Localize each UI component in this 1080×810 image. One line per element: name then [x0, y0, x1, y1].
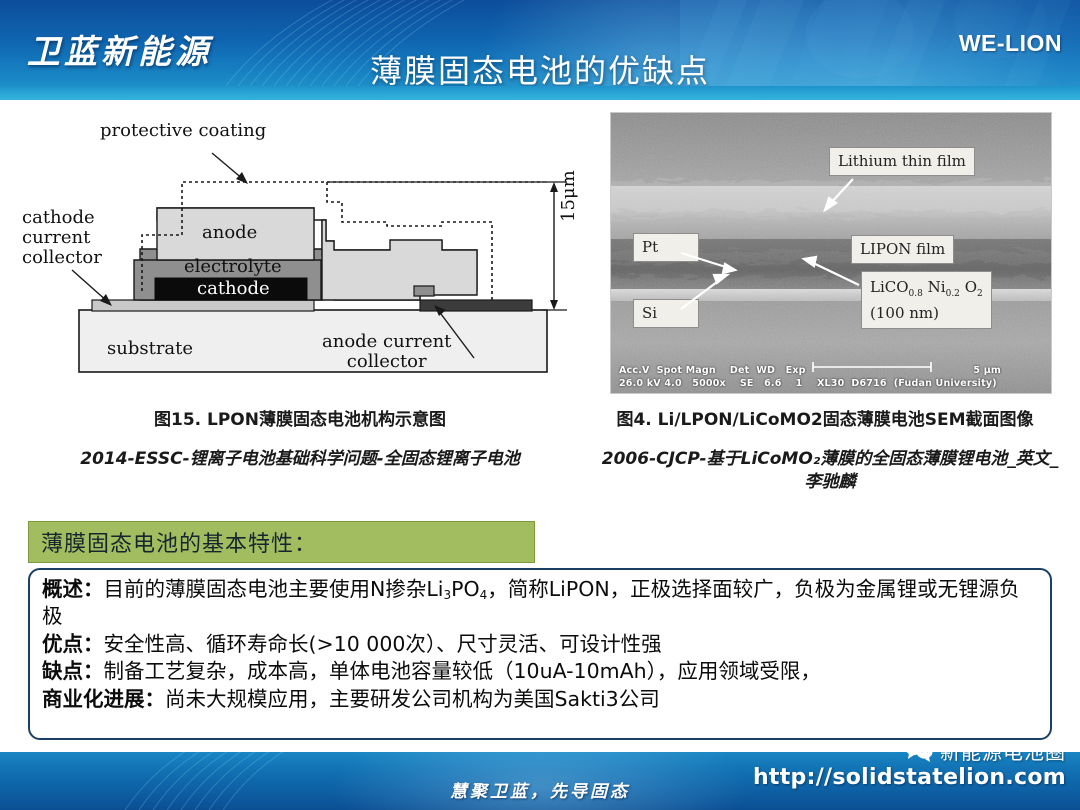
body-text-disadvantages: 制备工艺复杂，成本高，单体电池容量较低（10uA-10mAh），应用领域受限， — [104, 659, 821, 683]
caption-right-title: 图4. Li/LPON/LiCoMO2固态薄膜电池SEM截面图像 — [575, 405, 1075, 430]
sem-info-bar: Acc.V Spot Magn Det WD Exp 26.0 kV 4.0 5… — [611, 359, 1051, 393]
wechat-icon — [904, 752, 934, 762]
sem-label-pt: Pt — [633, 233, 699, 262]
body-key-disadvantages: 缺点： — [42, 659, 104, 683]
sem-scale-bar — [811, 361, 941, 373]
sem-info-row1: Acc.V Spot Magn Det WD Exp — [619, 365, 806, 376]
sem-scale-label: 5 μm — [973, 365, 1001, 376]
caption-right-source: 2006-CJCP-基于LiCoMO₂薄膜的全固态薄膜锂电池_英文_ 李驰麟 — [595, 448, 1065, 494]
slide-header: 卫蓝新能源 WE-LION 薄膜固态电池的优缺点 — [0, 0, 1080, 100]
sem-cathode-thickness: (100 nm) — [870, 304, 939, 322]
label-substrate: substrate — [107, 338, 193, 359]
body-line-advantages: 优点：安全性高、循环寿命长(>10 000次）、尺寸灵活、可设计性强 — [42, 631, 1040, 658]
content-text-box: 概述：目前的薄膜固态电池主要使用N掺杂Li3PO4，简称LiPON，正极选择面较… — [28, 568, 1052, 740]
label-anode: anode — [202, 222, 257, 243]
footer-url[interactable]: http://solidstatelion.com — [753, 765, 1066, 790]
label-cathode: cathode — [197, 278, 270, 299]
body-text-overview-b: PO — [451, 577, 480, 601]
sem-info-row2: 26.0 kV 4.0 5000x SE 6.6 1 — [619, 378, 802, 389]
slide-footer: 慧聚卫蓝，先导固态 新能源电池圈 http://solidstatelion.c… — [0, 752, 1080, 810]
body-line-commercialization: 商业化进展：尚未大规模应用，主要研发公司机构为美国Sakti3公司 — [42, 686, 1040, 713]
sem-image: Lithium thin film LIPON film Pt Si LiCO0… — [611, 113, 1051, 393]
footer-contact-block: 新能源电池圈 http://solidstatelion.com — [753, 752, 1066, 790]
footer-wechat-row: 新能源电池圈 — [753, 752, 1066, 764]
sem-label-si: Si — [633, 299, 699, 328]
body-text-overview-a: 目前的薄膜固态电池主要使用N掺杂Li — [104, 577, 444, 601]
header-bottom-band — [0, 86, 1080, 100]
sem-label-cathode-composition: LiCO0.8 Ni0.2 O2 (100 nm) — [861, 271, 992, 329]
figure-left-schematic: protective coating cathode current colle… — [22, 110, 587, 395]
figure-right-sem: Lithium thin film LIPON film Pt Si LiCO0… — [610, 112, 1052, 394]
sem-label-lithium-thin-film: Lithium thin film — [829, 147, 975, 176]
slide-root: 卫蓝新能源 WE-LION 薄膜固态电池的优缺点 — [0, 0, 1080, 810]
body-line-overview: 概述：目前的薄膜固态电池主要使用N掺杂Li3PO4，简称LiPON，正极选择面较… — [42, 576, 1040, 631]
body-text-advantages: 安全性高、循环寿命长(>10 000次）、尺寸灵活、可设计性强 — [104, 632, 662, 656]
body-key-overview: 概述： — [42, 577, 104, 601]
sem-info-instrument: XL30 D6716 (Fudan University) — [817, 378, 997, 389]
section-heading-label: 薄膜固态电池的基本特性： — [29, 526, 317, 558]
body-key-commercialization: 商业化进展： — [42, 687, 165, 711]
sem-cathode-formula: LiCO0.8 Ni0.2 O2 — [870, 278, 983, 296]
body-key-advantages: 优点： — [42, 632, 104, 656]
sem-label-lipon-film: LIPON film — [851, 235, 954, 264]
caption-left-title: 图15. LPON薄膜固态电池机构示意图 — [10, 405, 590, 430]
caption-left-source: 2014-ESSC-锂离子电池基础科学问题-全固态锂离子电池 — [55, 448, 545, 471]
section-heading-bar: 薄膜固态电池的基本特性： — [28, 521, 535, 563]
label-protective-coating: protective coating — [100, 120, 266, 141]
label-electrolyte: electrolyte — [184, 256, 282, 277]
label-cathode-current-collector: cathode current collector — [22, 208, 102, 268]
footer-wechat-name: 新能源电池圈 — [940, 752, 1066, 765]
body-text-commercialization: 尚未大规模应用，主要研发公司机构为美国Sakti3公司 — [165, 687, 660, 711]
label-thickness: 15μm — [558, 170, 579, 222]
label-anode-current-collector: anode current collector — [322, 332, 451, 372]
body-line-disadvantages: 缺点：制备工艺复杂，成本高，单体电池容量较低（10uA-10mAh），应用领域受… — [42, 658, 1040, 685]
body-sub-li3: 3 — [443, 588, 451, 602]
